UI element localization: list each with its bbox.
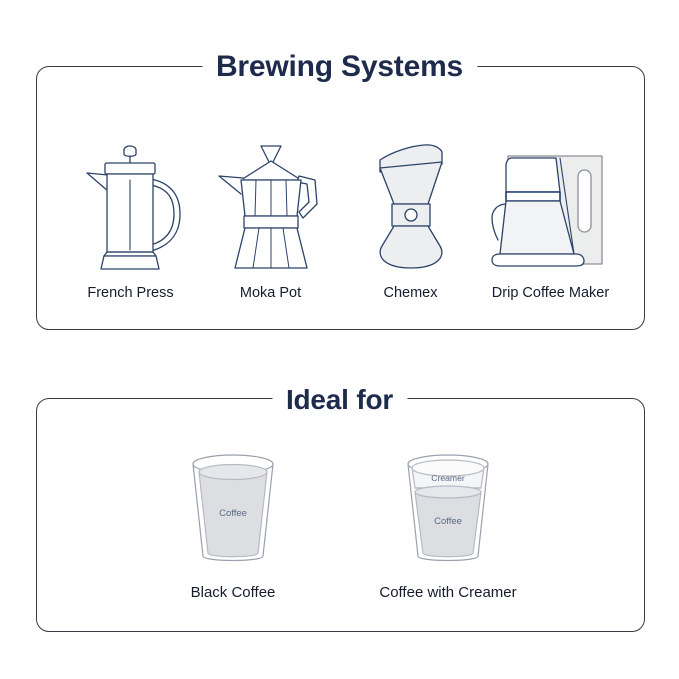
cup-layer-label: Creamer [431,473,465,483]
brewing-item-label: Chemex [384,285,438,302]
drip-coffee-maker-icon [486,142,616,272]
cup-coffee-with-creamer-icon: Creamer Coffee [396,448,500,568]
chemex-icon [358,142,464,272]
brewing-item-label: Drip Coffee Maker [492,285,609,302]
french-press-icon [73,142,189,272]
brewing-systems-items: French Press [36,112,645,302]
ideal-for-title: Ideal for [272,380,407,420]
brewing-item-french-press: French Press [61,142,201,302]
brewing-item-chemex: Chemex [341,142,481,302]
ideal-for-items: Coffee Black Coffee [36,432,645,602]
cup-black-coffee-icon: Coffee [181,448,285,568]
cup-layer-label: Coffee [219,508,247,519]
cup-layer-label: Coffee [434,516,462,527]
ideal-item-black-coffee: Coffee Black Coffee [126,448,341,602]
infographic-page: Brewing Systems [0,0,679,679]
ideal-item-label: Black Coffee [191,584,276,602]
moka-pot-icon [211,142,331,272]
ideal-item-coffee-with-creamer: Creamer Coffee Coffee with Creamer [341,448,556,602]
brewing-item-moka-pot: Moka Pot [201,142,341,302]
brewing-item-drip-coffee-maker: Drip Coffee Maker [481,142,621,302]
brewing-item-label: French Press [87,285,173,302]
ideal-item-label: Coffee with Creamer [379,584,516,602]
brewing-item-label: Moka Pot [240,285,301,302]
brewing-systems-title: Brewing Systems [202,46,477,88]
